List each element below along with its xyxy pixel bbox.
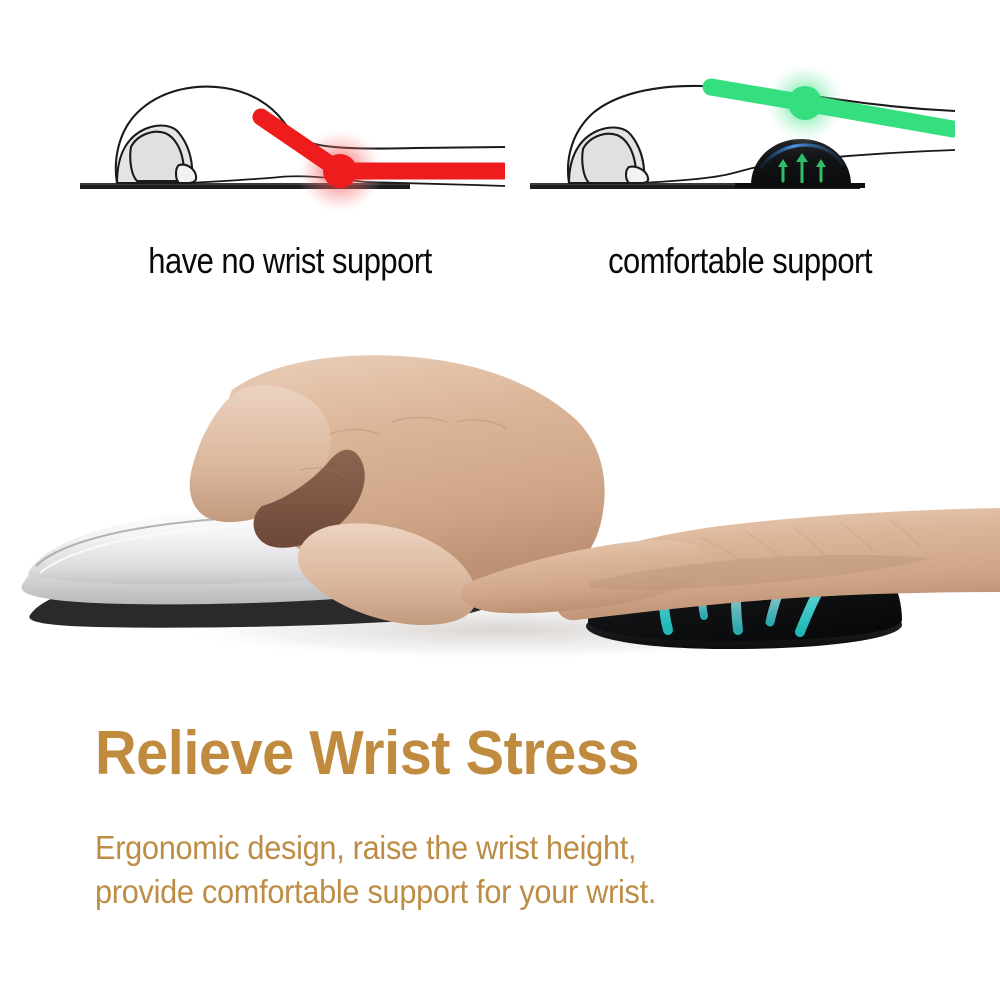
caption-comfortable-support: comfortable support xyxy=(555,240,925,282)
posture-marker-good xyxy=(711,61,953,145)
diagram-no-wrist-support xyxy=(75,55,505,235)
product-feature-image: have no wrist support xyxy=(0,0,1000,1000)
wrist-rest-pad-small xyxy=(735,139,865,188)
product-photo-hand-on-mouse-with-wrist-rest xyxy=(0,330,1000,700)
subheadline-line-1: Ergonomic design, raise the wrist height… xyxy=(95,826,656,870)
subheadline-line-2: provide comfortable support for your wri… xyxy=(95,870,656,914)
comparison-panel-no-support: have no wrist support xyxy=(75,55,505,305)
comparison-panel-comfortable-support: comfortable support xyxy=(525,55,955,305)
page-subheadline: Ergonomic design, raise the wrist height… xyxy=(95,826,656,914)
caption-no-wrist-support: have no wrist support xyxy=(105,240,475,282)
posture-marker-bad xyxy=(261,117,503,215)
mouse-side-profile xyxy=(569,128,757,183)
page-headline: Relieve Wrist Stress xyxy=(95,718,639,789)
diagram-comfortable-support xyxy=(525,55,955,235)
